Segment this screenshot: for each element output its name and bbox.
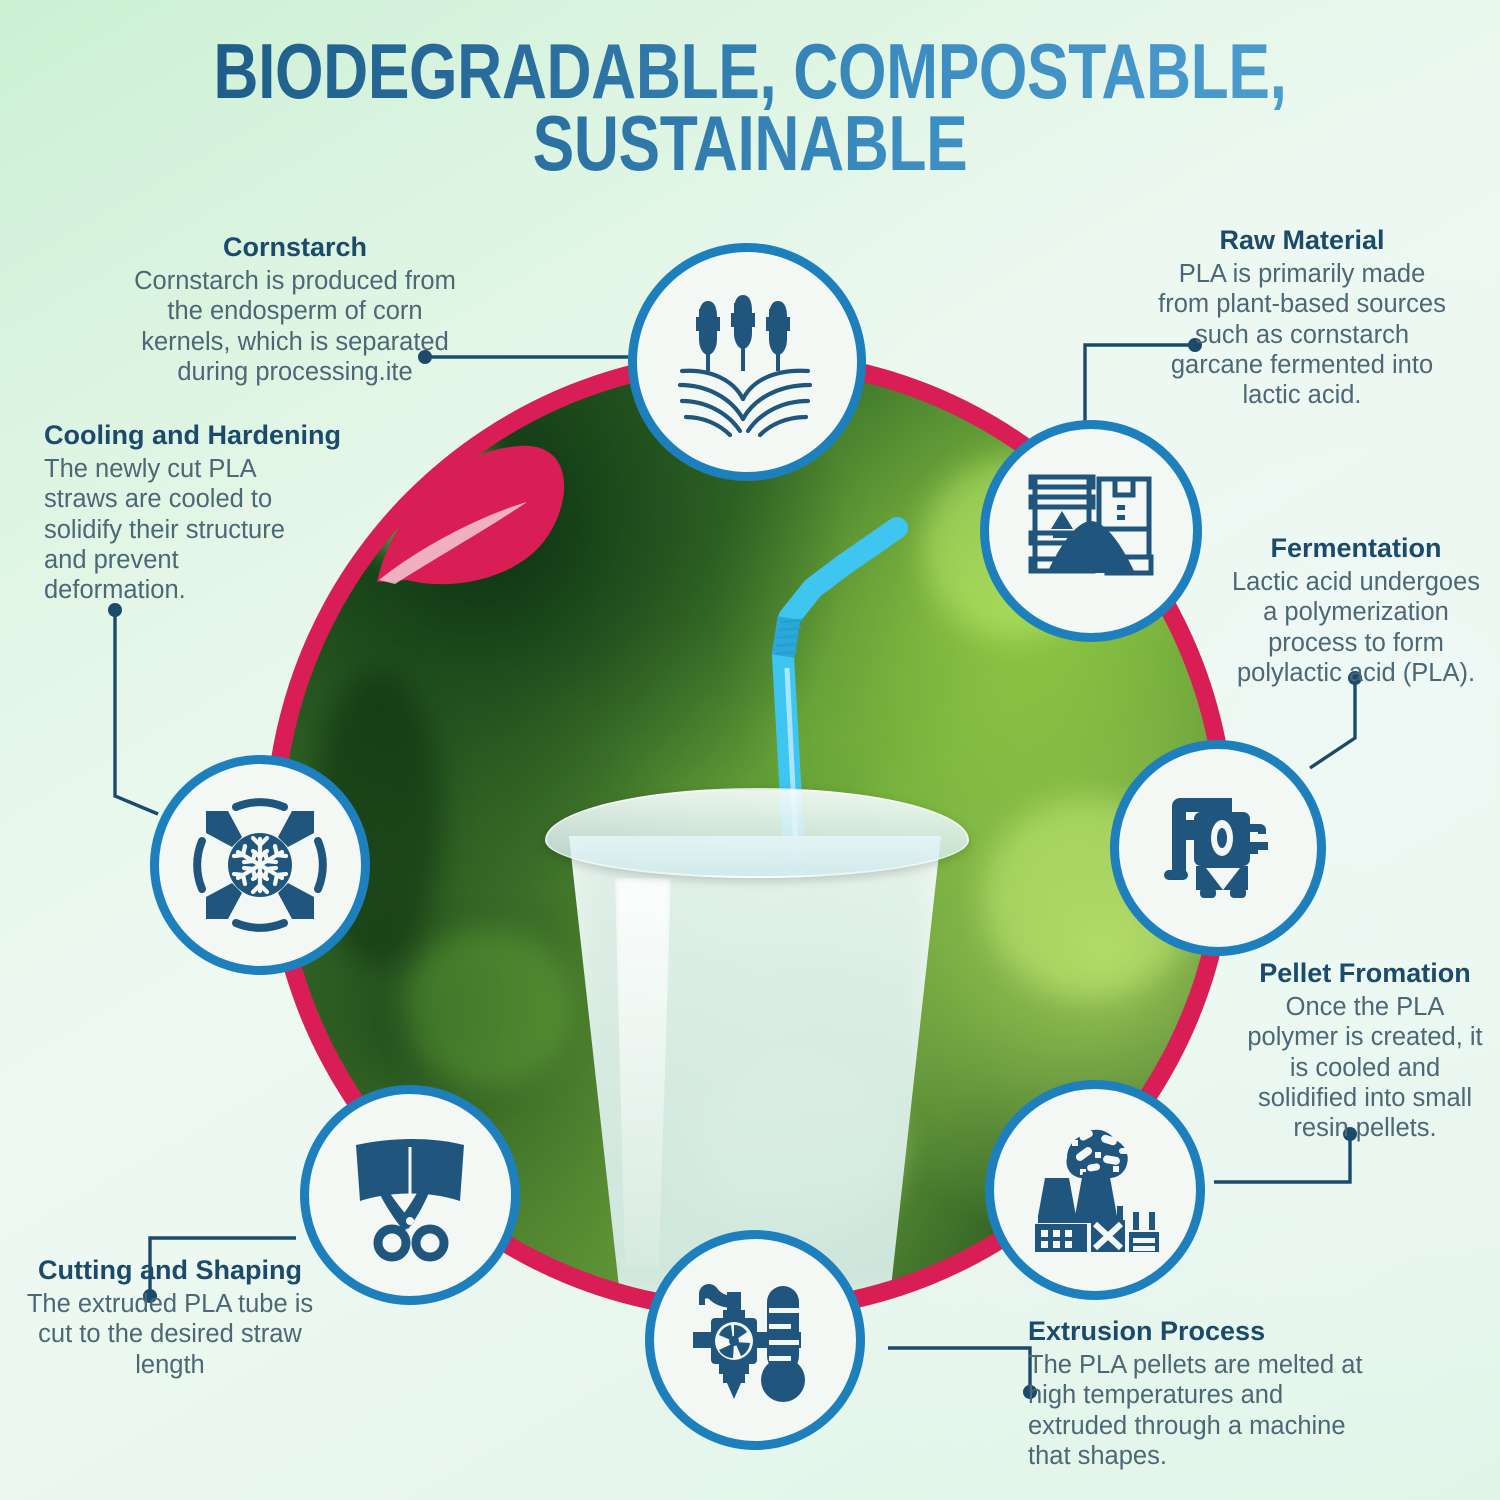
extruder-thermometer-icon (685, 1270, 825, 1410)
icon-circle-fermentation[interactable] (1110, 740, 1326, 956)
heading-extrusion-process: Extrusion Process (1028, 1316, 1428, 1348)
cornfield-icon (672, 287, 822, 437)
icon-circle-pellet-fromation[interactable] (985, 1080, 1205, 1300)
body-cooling-and-hardening: The newly cut PLA straws are cooled to s… (44, 454, 354, 606)
icon-circle-cutting-and-shaping[interactable] (300, 1085, 520, 1305)
text-block-fermentation: Fermentation Lactic acid undergoes a pol… (1212, 533, 1500, 688)
snowflake-cooling-icon (190, 795, 330, 935)
heading-raw-material: Raw Material (1132, 225, 1472, 257)
heading-fermentation: Fermentation (1212, 533, 1500, 565)
raw-material-barrel-icon (1021, 461, 1161, 601)
leaf-icon (369, 440, 579, 590)
heading-pellet-fromation: Pellet Fromation (1234, 958, 1496, 990)
heading-cornstarch: Cornstarch (110, 232, 480, 264)
body-cornstarch: Cornstarch is produced from the endosper… (110, 266, 480, 387)
text-block-cooling-and-hardening: Cooling and Hardening The newly cut PLA … (44, 420, 354, 606)
fermentation-tank-icon (1150, 780, 1286, 916)
body-pellet-fromation: Once the PLA polymer is created, it is c… (1234, 992, 1496, 1144)
text-block-cutting-and-shaping: Cutting and Shaping The extruded PLA tub… (10, 1255, 330, 1380)
body-cutting-and-shaping: The extruded PLA tube is cut to the desi… (10, 1289, 330, 1380)
body-fermentation: Lactic acid undergoes a polymerization p… (1212, 567, 1500, 688)
scissors-cutting-icon (340, 1125, 480, 1265)
icon-circle-extrusion-process[interactable] (645, 1230, 865, 1450)
text-block-cornstarch: Cornstarch Cornstarch is produced from t… (110, 232, 480, 387)
icon-circle-raw-material[interactable] (980, 420, 1202, 642)
page-title: BIODEGRADABLE, COMPOSTABLE, SUSTAINABLE (150, 36, 1350, 180)
text-block-pellet-fromation: Pellet Fromation Once the PLA polymer is… (1234, 958, 1496, 1144)
text-block-extrusion-process: Extrusion Process The PLA pellets are me… (1028, 1316, 1428, 1471)
heading-cutting-and-shaping: Cutting and Shaping (10, 1255, 330, 1287)
text-block-raw-material: Raw Material PLA is primarily made from … (1132, 225, 1472, 411)
body-raw-material: PLA is primarily made from plant-based s… (1132, 259, 1472, 411)
heading-cooling-and-hardening: Cooling and Hardening (44, 420, 354, 452)
icon-circle-cornstarch[interactable] (628, 243, 866, 481)
pellet-factory-icon (1025, 1120, 1165, 1260)
body-extrusion-process: The PLA pellets are melted at high tempe… (1028, 1350, 1428, 1471)
icon-circle-cooling-and-hardening[interactable] (150, 755, 370, 975)
plastic-cup (545, 788, 965, 1302)
